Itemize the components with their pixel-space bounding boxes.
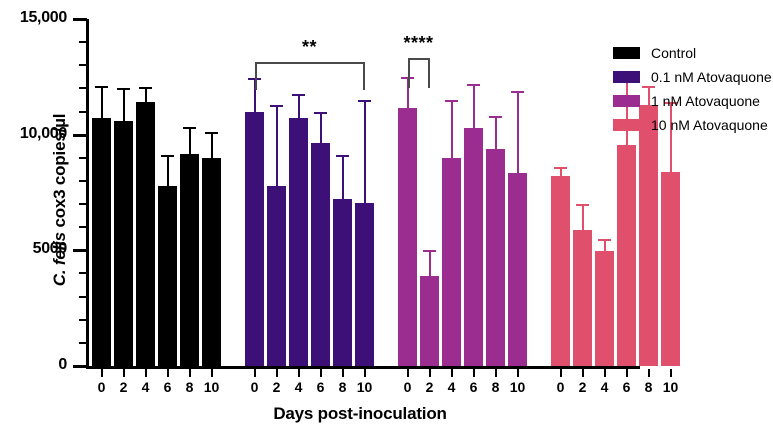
x-axis-tick-label: 0 (90, 379, 114, 395)
error-bar-stem (495, 116, 497, 148)
legend-item: Control (613, 41, 772, 65)
bar (92, 118, 111, 366)
x-axis-tick (364, 369, 366, 377)
bar (595, 251, 614, 366)
y-axis-tick-minor (79, 226, 87, 228)
bar (114, 121, 133, 366)
error-bar-cap (139, 87, 152, 89)
x-axis-tick (276, 369, 278, 377)
y-axis-tick-minor (79, 111, 87, 113)
error-bar-cap (205, 132, 218, 134)
bar (180, 154, 199, 366)
significance-bracket-tick (428, 58, 430, 88)
y-axis-tick-minor (79, 87, 87, 89)
x-axis-tick-label: 4 (134, 379, 158, 395)
x-axis-tick (517, 369, 519, 377)
error-bar-cap (358, 100, 371, 102)
x-axis-tick-label: 4 (440, 379, 464, 395)
legend-item: 1 nM Atovaquone (613, 89, 772, 113)
significance-bracket-tick (255, 62, 257, 90)
y-axis-tick-major (73, 365, 87, 368)
legend-swatch (613, 119, 640, 131)
bar (136, 102, 155, 366)
bar (289, 118, 308, 366)
y-axis-tick-major (73, 18, 87, 21)
x-axis-tick (254, 369, 256, 377)
error-bar-cap (336, 155, 349, 157)
error-bar-stem (429, 250, 431, 275)
legend-swatch (613, 47, 640, 59)
x-axis-tick-label: 0 (243, 379, 267, 395)
error-bar-stem (167, 155, 169, 185)
y-axis-tick-minor (79, 180, 87, 182)
x-axis-title: Days post-inoculation (80, 404, 640, 424)
x-axis-tick (407, 369, 409, 377)
x-axis-tick-label: 0 (396, 379, 420, 395)
error-bar-stem (101, 86, 103, 118)
error-bar-cap (292, 94, 305, 96)
x-axis-tick (123, 369, 125, 377)
bar (639, 105, 658, 366)
x-axis-tick-label: 2 (418, 379, 442, 395)
legend-item: 10 nM Atovaquone (613, 113, 772, 137)
x-axis-tick (320, 369, 322, 377)
significance-bracket-tick (408, 58, 410, 88)
significance-bracket-tick (363, 62, 365, 90)
error-bar-cap (554, 167, 567, 169)
legend-label: 1 nM Atovaquone (651, 93, 760, 109)
y-axis-tick-label: 10,000 (0, 125, 67, 143)
error-bar-stem (298, 94, 300, 118)
x-axis-tick (167, 369, 169, 377)
bar (573, 230, 592, 366)
x-axis-tick (473, 369, 475, 377)
x-axis-tick-label: 0 (549, 379, 573, 395)
error-bar-cap (423, 250, 436, 252)
error-bar-stem (320, 112, 322, 143)
bar (245, 112, 264, 366)
bar (442, 158, 461, 366)
x-axis-tick-label: 8 (637, 379, 661, 395)
significance-bracket (255, 62, 365, 64)
legend-swatch (613, 95, 640, 107)
y-axis-tick-minor (79, 319, 87, 321)
error-bar-stem (473, 84, 475, 128)
error-bar-stem (342, 155, 344, 199)
legend-label: 10 nM Atovaquone (651, 117, 768, 133)
bar (355, 203, 374, 366)
legend-label: 0.1 nM Atovaquone (651, 69, 772, 85)
error-bar-cap (270, 105, 283, 107)
x-axis-tick-label: 2 (112, 379, 136, 395)
y-axis-tick-minor (79, 342, 87, 344)
x-axis-tick-label: 6 (309, 379, 333, 395)
error-bar-cap (467, 84, 480, 86)
bar (508, 173, 527, 366)
bar (267, 186, 286, 366)
x-axis-tick-label: 10 (659, 379, 683, 395)
bar (661, 172, 680, 366)
error-bar-stem (582, 204, 584, 229)
x-axis-tick-label: 2 (265, 379, 289, 395)
x-axis-tick-label: 10 (353, 379, 377, 395)
x-axis-tick-label: 10 (506, 379, 530, 395)
y-axis-tick-major (73, 249, 87, 252)
legend-item: 0.1 nM Atovaquone (613, 65, 772, 89)
legend-swatch (613, 71, 640, 83)
x-axis-tick-label: 4 (593, 379, 617, 395)
y-axis-tick-minor (79, 64, 87, 66)
error-bar-stem (145, 87, 147, 102)
error-bar-cap (95, 86, 108, 88)
bar (486, 149, 505, 366)
error-bar-cap (314, 112, 327, 114)
x-axis-tick (429, 369, 431, 377)
error-bar-cap (117, 88, 130, 90)
x-axis-tick-label: 8 (331, 379, 355, 395)
y-axis-tick-minor (79, 296, 87, 298)
error-bar-cap (598, 239, 611, 241)
x-axis-tick-label: 8 (484, 379, 508, 395)
error-bar-cap (489, 116, 502, 118)
x-axis-tick (582, 369, 584, 377)
x-axis-tick (560, 369, 562, 377)
bar (311, 143, 330, 366)
x-axis-tick-label: 6 (462, 379, 486, 395)
significance-label: **** (368, 34, 470, 52)
y-axis-tick-minor (79, 203, 87, 205)
x-axis-tick-label: 10 (200, 379, 224, 395)
x-axis-tick (101, 369, 103, 377)
y-axis-tick-label: 0 (0, 356, 67, 374)
error-bar-cap (161, 155, 174, 157)
bar (420, 276, 439, 366)
x-axis-tick-label: 6 (615, 379, 639, 395)
bar (551, 176, 570, 366)
bar (202, 158, 221, 366)
x-axis-tick (189, 369, 191, 377)
x-axis-tick (626, 369, 628, 377)
x-axis-tick (451, 369, 453, 377)
error-bar-cap (445, 100, 458, 102)
error-bar-cap (183, 127, 196, 129)
y-axis-tick-minor (79, 41, 87, 43)
legend: Control0.1 nM Atovaquone1 nM Atovaquone1… (613, 41, 772, 137)
y-axis-tick-label: 15,000 (0, 9, 67, 27)
bar (333, 199, 352, 366)
y-axis-tick-major (73, 134, 87, 137)
x-axis-tick (670, 369, 672, 377)
x-axis-tick-label: 6 (156, 379, 180, 395)
bar (398, 108, 417, 366)
error-bar-cap (511, 91, 524, 93)
error-bar-stem (517, 91, 519, 173)
x-axis-tick (648, 369, 650, 377)
bar (464, 128, 483, 366)
x-axis-tick (342, 369, 344, 377)
bar (158, 186, 177, 366)
error-bar-stem (276, 105, 278, 186)
y-axis-tick-minor (79, 272, 87, 274)
bar (617, 145, 636, 366)
error-bar-stem (364, 100, 366, 203)
x-axis-tick (604, 369, 606, 377)
error-bar-stem (451, 100, 453, 158)
error-bar-cap (576, 204, 589, 206)
bar-chart-figure: C. felis cox3 copies/µl 0500010,00015,00… (0, 0, 773, 433)
legend-label: Control (651, 45, 696, 61)
x-axis-tick (211, 369, 213, 377)
x-axis-tick (145, 369, 147, 377)
y-axis-tick-label: 5000 (0, 240, 67, 258)
y-axis-tick-minor (79, 157, 87, 159)
x-axis-tick-label: 2 (571, 379, 595, 395)
significance-bracket (408, 58, 430, 60)
x-axis-tick-label: 4 (287, 379, 311, 395)
error-bar-stem (123, 88, 125, 120)
x-axis-tick-label: 8 (178, 379, 202, 395)
error-bar-stem (211, 132, 213, 157)
error-bar-stem (189, 127, 191, 155)
x-axis-tick (495, 369, 497, 377)
x-axis-tick (298, 369, 300, 377)
